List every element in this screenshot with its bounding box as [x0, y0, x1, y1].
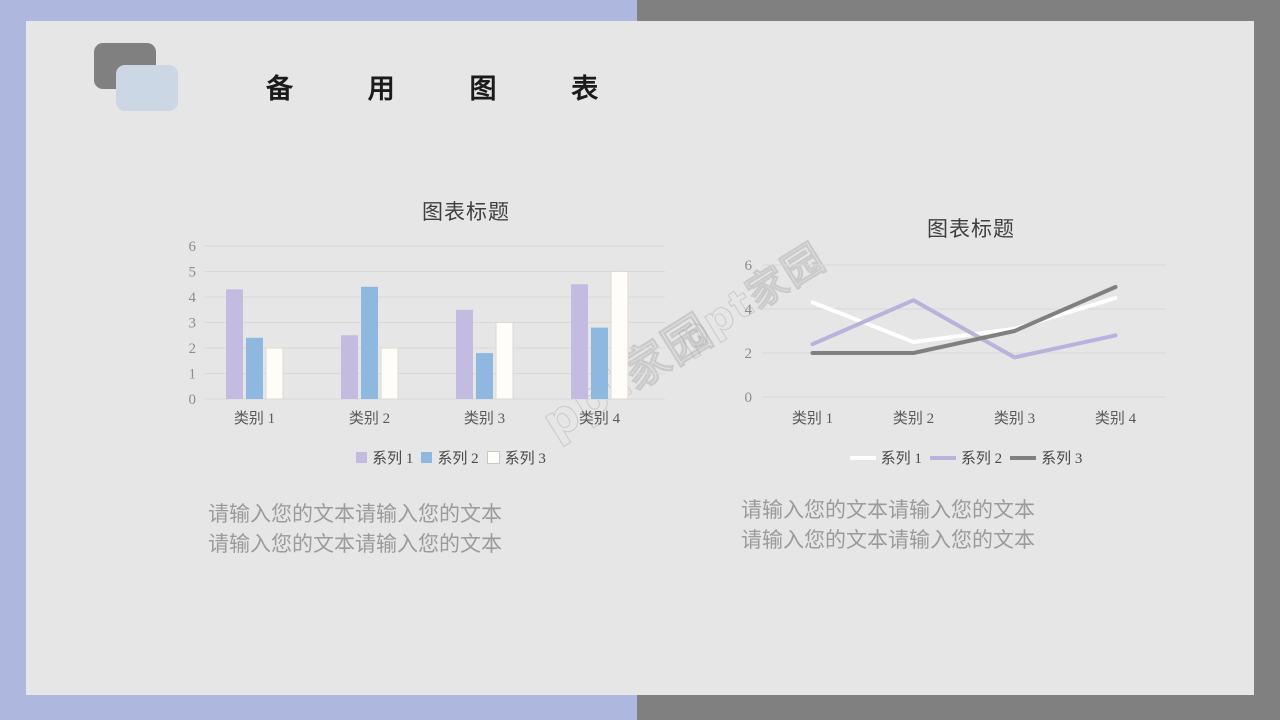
- decorative-band-top: [0, 0, 637, 21]
- legend-entry: 系列 3: [1010, 447, 1082, 468]
- bar: [266, 348, 283, 399]
- line-chart-plot: 0246类别 1类别 2类别 3类别 4: [726, 257, 1196, 437]
- legend-line-icon: [930, 456, 956, 460]
- legend-swatch-icon: [421, 452, 432, 463]
- y-axis-tick-label: 3: [189, 316, 197, 332]
- body-text-right: 请输入您的文本请输入您的文本 请输入您的文本请输入您的文本: [741, 495, 1035, 556]
- legend-label: 系列 3: [505, 447, 546, 468]
- legend-entry: 系列 2: [421, 447, 478, 468]
- legend-label: 系列 1: [881, 447, 922, 468]
- legend-label: 系列 2: [437, 447, 478, 468]
- line-chart-legend: 系列 1系列 2系列 3: [736, 447, 1196, 468]
- slide-canvas: ppt家园 ppt家园 备 用 图 表 图表标题 0123456类别 1类别 2…: [26, 21, 1254, 695]
- x-axis-category-label: 类别 3: [464, 410, 505, 427]
- y-axis-tick-label: 2: [189, 341, 197, 357]
- legend-entry: 系列 1: [356, 447, 413, 468]
- bar: [476, 353, 493, 399]
- body-text-left: 请输入您的文本请输入您的文本 请输入您的文本请输入您的文本: [208, 499, 502, 560]
- decorative-band-bottom: [0, 695, 637, 720]
- y-axis-tick-label: 0: [745, 390, 753, 406]
- line-chart-title: 图表标题: [746, 213, 1196, 243]
- legend-label: 系列 2: [961, 447, 1002, 468]
- x-axis-category-label: 类别 2: [893, 410, 934, 427]
- legend-line-icon: [1010, 456, 1036, 460]
- y-axis-tick-label: 4: [189, 290, 197, 306]
- slide-header: 备 用 图 表: [26, 21, 1254, 141]
- bar: [246, 338, 263, 399]
- y-axis-tick-label: 4: [745, 302, 753, 318]
- bar-chart-plot: 0123456类别 1类别 2类别 3类别 4: [171, 240, 691, 435]
- bar: [361, 287, 378, 399]
- bar-chart-legend: 系列 1系列 2系列 3: [211, 447, 691, 468]
- bar: [381, 348, 398, 399]
- logo-icon: [94, 43, 184, 118]
- line-series: [813, 298, 1116, 342]
- line-chart-block: 图表标题 0246类别 1类别 2类别 3类别 4 系列 1系列 2系列 3: [726, 213, 1196, 493]
- logo-rect-front-icon: [116, 65, 178, 111]
- legend-label: 系列 3: [1041, 447, 1082, 468]
- page-title: 备 用 图 表: [266, 67, 632, 106]
- bar: [226, 289, 243, 399]
- y-axis-tick-label: 0: [189, 392, 197, 408]
- slide-root: ppt家园 ppt家园 备 用 图 表 图表标题 0123456类别 1类别 2…: [0, 0, 1280, 720]
- bar: [571, 284, 588, 399]
- x-axis-category-label: 类别 1: [792, 410, 833, 427]
- y-axis-tick-label: 2: [745, 346, 753, 362]
- legend-swatch-icon: [356, 452, 367, 463]
- x-axis-category-label: 类别 1: [234, 410, 275, 427]
- bar-chart-block: 图表标题 0123456类别 1类别 2类别 3类别 4 系列 1系列 2系列 …: [171, 196, 691, 496]
- bar: [496, 323, 513, 400]
- legend-entry: 系列 2: [930, 447, 1002, 468]
- bar: [341, 335, 358, 399]
- x-axis-category-label: 类别 4: [1095, 410, 1137, 427]
- legend-line-icon: [850, 456, 876, 460]
- line-chart-svg: 0246类别 1类别 2类别 3类别 4: [726, 257, 1176, 437]
- y-axis-tick-label: 6: [745, 258, 753, 274]
- x-axis-category-label: 类别 4: [579, 410, 621, 427]
- legend-label: 系列 1: [372, 447, 413, 468]
- bar-chart-svg: 0123456类别 1类别 2类别 3类别 4: [171, 240, 671, 435]
- x-axis-category-label: 类别 3: [994, 410, 1035, 427]
- legend-entry: 系列 1: [850, 447, 922, 468]
- x-axis-category-label: 类别 2: [349, 410, 390, 427]
- y-axis-tick-label: 1: [189, 367, 197, 383]
- decorative-band-left: [0, 0, 26, 720]
- legend-swatch-icon: [487, 451, 500, 464]
- bar: [591, 328, 608, 399]
- y-axis-tick-label: 6: [189, 240, 197, 255]
- y-axis-tick-label: 5: [189, 265, 197, 281]
- bar: [456, 310, 473, 399]
- bar: [611, 272, 628, 400]
- legend-entry: 系列 3: [487, 447, 546, 468]
- bar-chart-title: 图表标题: [241, 196, 691, 226]
